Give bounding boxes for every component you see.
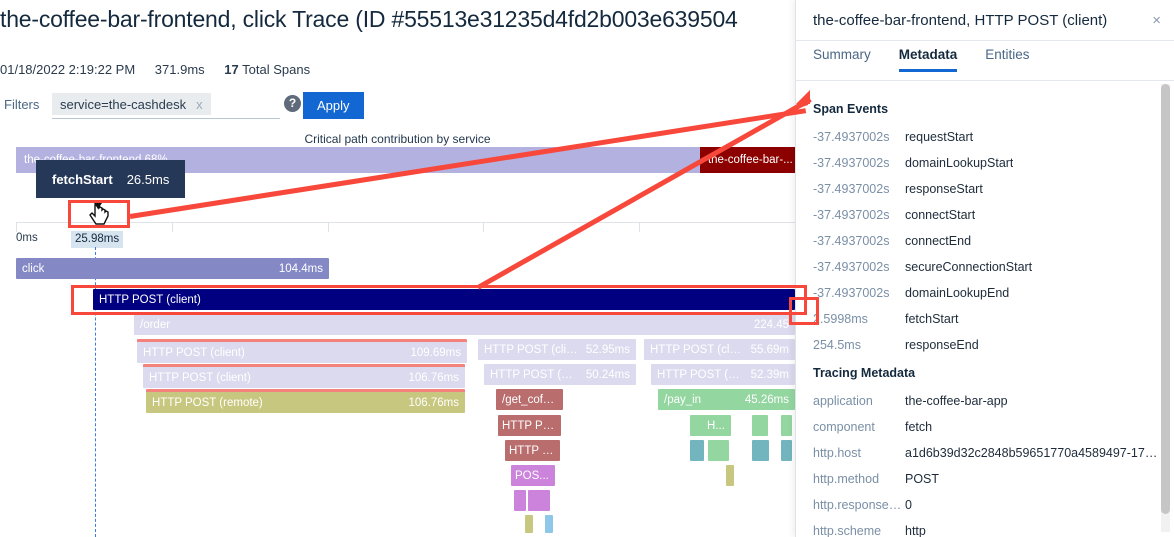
trace-detail-page: the-coffee-bar-frontend, click Trace (ID… bbox=[0, 0, 1174, 537]
span-event-time: -37.4937002s bbox=[813, 150, 905, 176]
waterfall-row-duration: 52.95ms bbox=[586, 344, 630, 356]
span-event-time: 2.5998ms bbox=[813, 306, 905, 332]
ruler-tick bbox=[172, 223, 173, 232]
trace-timestamp: 01/18/2022 2:19:22 PM bbox=[0, 62, 135, 77]
tracing-metadata-value: a1d6b39d32c2848b59651770a4589497-17… bbox=[905, 440, 1157, 466]
waterfall-subrow[interactable] bbox=[525, 515, 533, 533]
span-event-row: -37.4937002sconnectEnd bbox=[813, 228, 1161, 254]
waterfall-row-label: HTTP POST (client) bbox=[657, 369, 743, 381]
tracing-metadata-heading: Tracing Metadata bbox=[813, 366, 1161, 380]
tracing-metadata-row: http.schemehttp bbox=[813, 518, 1161, 537]
waterfall-row-label: HTTP POST (client) bbox=[650, 344, 743, 356]
waterfall-subrow[interactable] bbox=[545, 515, 553, 533]
waterfall-subrow-label: POS... bbox=[515, 470, 549, 482]
trace-duration: 371.9ms bbox=[155, 62, 205, 77]
tooltip-name: fetchStart bbox=[52, 172, 113, 187]
question-icon[interactable]: ? bbox=[284, 95, 301, 112]
span-event-time: 254.5ms bbox=[813, 332, 905, 358]
tracing-metadata-row: componentfetch bbox=[813, 414, 1161, 440]
waterfall-row-label: HTTP POST (remote) bbox=[152, 397, 263, 409]
waterfall-row[interactable]: click104.4ms bbox=[16, 258, 329, 279]
waterfall-row[interactable]: HTTP POST (client)50.24ms bbox=[484, 364, 636, 385]
span-event-row: -37.4937002sdomainLookupEnd bbox=[813, 280, 1161, 306]
tab-metadata[interactable]: Metadata bbox=[899, 41, 972, 72]
waterfall-row-label: HTTP POST (client) bbox=[149, 372, 251, 384]
span-event-name: responseEnd bbox=[905, 332, 979, 358]
waterfall-subrow[interactable] bbox=[752, 440, 769, 461]
timeline-ruler[interactable] bbox=[16, 222, 795, 232]
waterfall-row[interactable]: HTTP POST (remote)106.76ms bbox=[146, 389, 465, 413]
waterfall-subrow[interactable]: HTTP PO... bbox=[498, 415, 561, 436]
tracing-metadata-row: http.response…0 bbox=[813, 492, 1161, 518]
span-event-name: secureConnectionStart bbox=[905, 254, 1032, 280]
tracing-metadata-key: http.host bbox=[813, 440, 905, 466]
span-event-name: fetchStart bbox=[905, 306, 959, 332]
tracing-metadata-row: applicationthe-coffee-bar-app bbox=[813, 388, 1161, 414]
waterfall-row-label: HTTP POST (client) bbox=[143, 347, 245, 359]
waterfall-row-label: /pay_in bbox=[664, 394, 701, 406]
ruler-tick bbox=[483, 223, 484, 232]
panel-body: Span Events -37.4937002srequestStart-37.… bbox=[796, 82, 1174, 537]
waterfall-subrow[interactable] bbox=[781, 440, 792, 461]
waterfall-row-duration: 55.69m bbox=[751, 344, 789, 356]
ruler-label: 0ms bbox=[16, 232, 38, 244]
waterfall-row-label: /get_coffee bbox=[502, 394, 557, 406]
filters-label: Filters bbox=[4, 97, 39, 112]
span-event-row: 254.5msresponseEnd bbox=[813, 332, 1161, 358]
tracing-metadata-row: http.methodPOST bbox=[813, 466, 1161, 492]
span-event-name: domainLookupEnd bbox=[905, 280, 1009, 306]
critical-path-title: Critical path contribution by service bbox=[0, 132, 795, 146]
waterfall-row[interactable]: /order224.45 bbox=[134, 314, 795, 335]
tab-summary[interactable]: Summary bbox=[813, 41, 885, 72]
tracing-metadata-key: http.method bbox=[813, 466, 905, 492]
tracing-metadata-value: POST bbox=[905, 466, 939, 492]
tracing-metadata-value: the-coffee-bar-app bbox=[905, 388, 1008, 414]
span-event-row: -37.4937002srequestStart bbox=[813, 124, 1161, 150]
span-event-row: -37.4937002sconnectStart bbox=[813, 202, 1161, 228]
tracing-metadata-list: applicationthe-coffee-bar-appcomponentfe… bbox=[813, 388, 1161, 537]
waterfall-row-duration: 45.26ms bbox=[745, 394, 789, 406]
span-event-time: -37.4937002s bbox=[813, 176, 905, 202]
span-event-time: -37.4937002s bbox=[813, 124, 905, 150]
tracing-metadata-row: http.hosta1d6b39d32c2848b59651770a458949… bbox=[813, 440, 1161, 466]
waterfall-row-label: /order bbox=[140, 319, 170, 331]
apply-filters-button[interactable]: Apply filters bbox=[303, 92, 364, 119]
waterfall-row[interactable]: HTTP POST (client)106.76ms bbox=[143, 364, 465, 388]
waterfall-subrow[interactable] bbox=[752, 415, 768, 436]
waterfall-row-duration: 52.39m bbox=[751, 369, 789, 381]
waterfall-row-duration: 106.76ms bbox=[408, 372, 459, 384]
panel-tabs: SummaryMetadataEntities bbox=[796, 41, 1174, 81]
waterfall-row-label: click bbox=[22, 263, 44, 275]
ruler-tick bbox=[639, 223, 640, 232]
page-title: the-coffee-bar-frontend, click Trace (ID… bbox=[0, 6, 795, 33]
filter-chip-label: service=the-cashdesk bbox=[60, 97, 186, 112]
waterfall-row-selected[interactable]: HTTP POST (client) bbox=[93, 289, 795, 310]
waterfall-subrow-label: H... bbox=[707, 420, 725, 432]
span-event-row: -37.4937002sdomainLookupStart bbox=[813, 150, 1161, 176]
waterfall-subrow[interactable] bbox=[690, 440, 704, 461]
span-event-name: connectStart bbox=[905, 202, 975, 228]
span-count-value: 17 bbox=[224, 62, 238, 77]
span-event-row: -37.4937002sresponseStart bbox=[813, 176, 1161, 202]
panel-scrollbar-thumb[interactable] bbox=[1161, 84, 1170, 514]
span-detail-panel: the-coffee-bar-frontend, HTTP POST (clie… bbox=[795, 0, 1174, 537]
waterfall-row[interactable]: HTTP POST (client)109.69ms bbox=[137, 339, 467, 363]
waterfall-subrow-label: HTTP P... bbox=[509, 445, 556, 457]
span-event-time: -37.4937002s bbox=[813, 254, 905, 280]
tracing-metadata-value: 0 bbox=[905, 492, 912, 518]
tracing-metadata-key: application bbox=[813, 388, 905, 414]
waterfall-row-label: HTTP POST (client) bbox=[99, 294, 201, 306]
ruler-tick bbox=[328, 223, 329, 232]
waterfall-row[interactable]: HTTP POST (client)52.95ms bbox=[478, 339, 636, 360]
span-events-list: -37.4937002srequestStart-37.4937002sdoma… bbox=[813, 124, 1161, 358]
filter-input[interactable]: service=the-cashdesk x bbox=[52, 93, 280, 119]
waterfall-subrow[interactable]: HTTP P... bbox=[505, 440, 560, 461]
panel-header: the-coffee-bar-frontend, HTTP POST (clie… bbox=[796, 0, 1174, 41]
waterfall-row[interactable]: /pay_in45.26ms bbox=[658, 389, 795, 410]
waterfall-row[interactable]: /get_coffee bbox=[496, 389, 563, 410]
span-event-name: responseStart bbox=[905, 176, 983, 202]
close-icon[interactable]: × bbox=[1152, 12, 1161, 29]
waterfall-row-duration: 224.45 bbox=[754, 319, 789, 331]
close-icon[interactable]: x bbox=[196, 97, 203, 112]
tab-entities[interactable]: Entities bbox=[985, 41, 1043, 72]
critical-path-segment-label: the-coffee-bar-... bbox=[708, 154, 793, 166]
span-events-heading: Span Events bbox=[813, 102, 1161, 116]
span-event-tooltip: fetchStart 26.5ms bbox=[36, 160, 185, 198]
waterfall-row-label: HTTP POST (client) bbox=[490, 369, 578, 381]
span-count-label: Total Spans bbox=[242, 62, 310, 77]
waterfall-rows: click104.4msHTTP POST (client)/order224.… bbox=[0, 258, 795, 537]
waterfall-subrow[interactable] bbox=[726, 465, 734, 486]
filter-chip-service[interactable]: service=the-cashdesk x bbox=[52, 93, 211, 115]
tracing-metadata-value: fetch bbox=[905, 414, 932, 440]
waterfall-subrow[interactable] bbox=[781, 415, 792, 436]
arrowhead-icon-span-events bbox=[784, 91, 810, 117]
waterfall-row-duration: 106.76ms bbox=[408, 397, 459, 409]
waterfall-row[interactable]: HTTP POST (client)52.39m bbox=[651, 364, 795, 385]
waterfall-subrow[interactable] bbox=[708, 440, 729, 461]
tooltip-value: 26.5ms bbox=[127, 172, 170, 187]
span-event-time: -37.4937002s bbox=[813, 228, 905, 254]
waterfall-row-duration: 109.69ms bbox=[410, 347, 461, 359]
span-event-row: 2.5998msfetchStart bbox=[813, 306, 1161, 332]
waterfall-row-duration: 50.24ms bbox=[586, 369, 630, 381]
waterfall-subrow[interactable] bbox=[514, 490, 526, 511]
hover-time-label: 25.98ms bbox=[71, 231, 123, 248]
waterfall-subrow[interactable]: POS... bbox=[511, 465, 555, 486]
span-event-time: -37.4937002s bbox=[813, 202, 905, 228]
waterfall-row-duration: 104.4ms bbox=[279, 263, 323, 275]
panel-scrollbar[interactable] bbox=[1161, 84, 1170, 532]
waterfall-subrow[interactable] bbox=[535, 490, 550, 511]
waterfall-subrow-label: HTTP PO... bbox=[502, 420, 557, 432]
trace-waterfall-view: the-coffee-bar-frontend, click Trace (ID… bbox=[0, 0, 795, 537]
tracing-metadata-key: http.scheme bbox=[813, 518, 905, 537]
waterfall-row[interactable]: HTTP POST (client)55.69m bbox=[644, 339, 795, 360]
waterfall-row-label: HTTP POST (client) bbox=[484, 344, 578, 356]
panel-title: the-coffee-bar-frontend, HTTP POST (clie… bbox=[813, 12, 1107, 29]
pointer-cursor-icon bbox=[89, 203, 111, 229]
ruler-tick bbox=[16, 223, 17, 232]
tracing-metadata-key: http.response… bbox=[813, 492, 905, 518]
tracing-metadata-key: component bbox=[813, 414, 905, 440]
span-event-name: domainLookupStart bbox=[905, 150, 1013, 176]
waterfall-subrow[interactable]: H... bbox=[703, 415, 731, 436]
tracing-metadata-value: http bbox=[905, 518, 926, 537]
span-event-name: connectEnd bbox=[905, 228, 971, 254]
span-event-row: -37.4937002ssecureConnectionStart bbox=[813, 254, 1161, 280]
trace-summary-line: 01/18/2022 2:19:22 PM 371.9ms 17 Total S… bbox=[0, 62, 310, 77]
span-event-name: requestStart bbox=[905, 124, 973, 150]
span-event-time: -37.4937002s bbox=[813, 280, 905, 306]
trace-span-count: 17 Total Spans bbox=[224, 62, 310, 77]
